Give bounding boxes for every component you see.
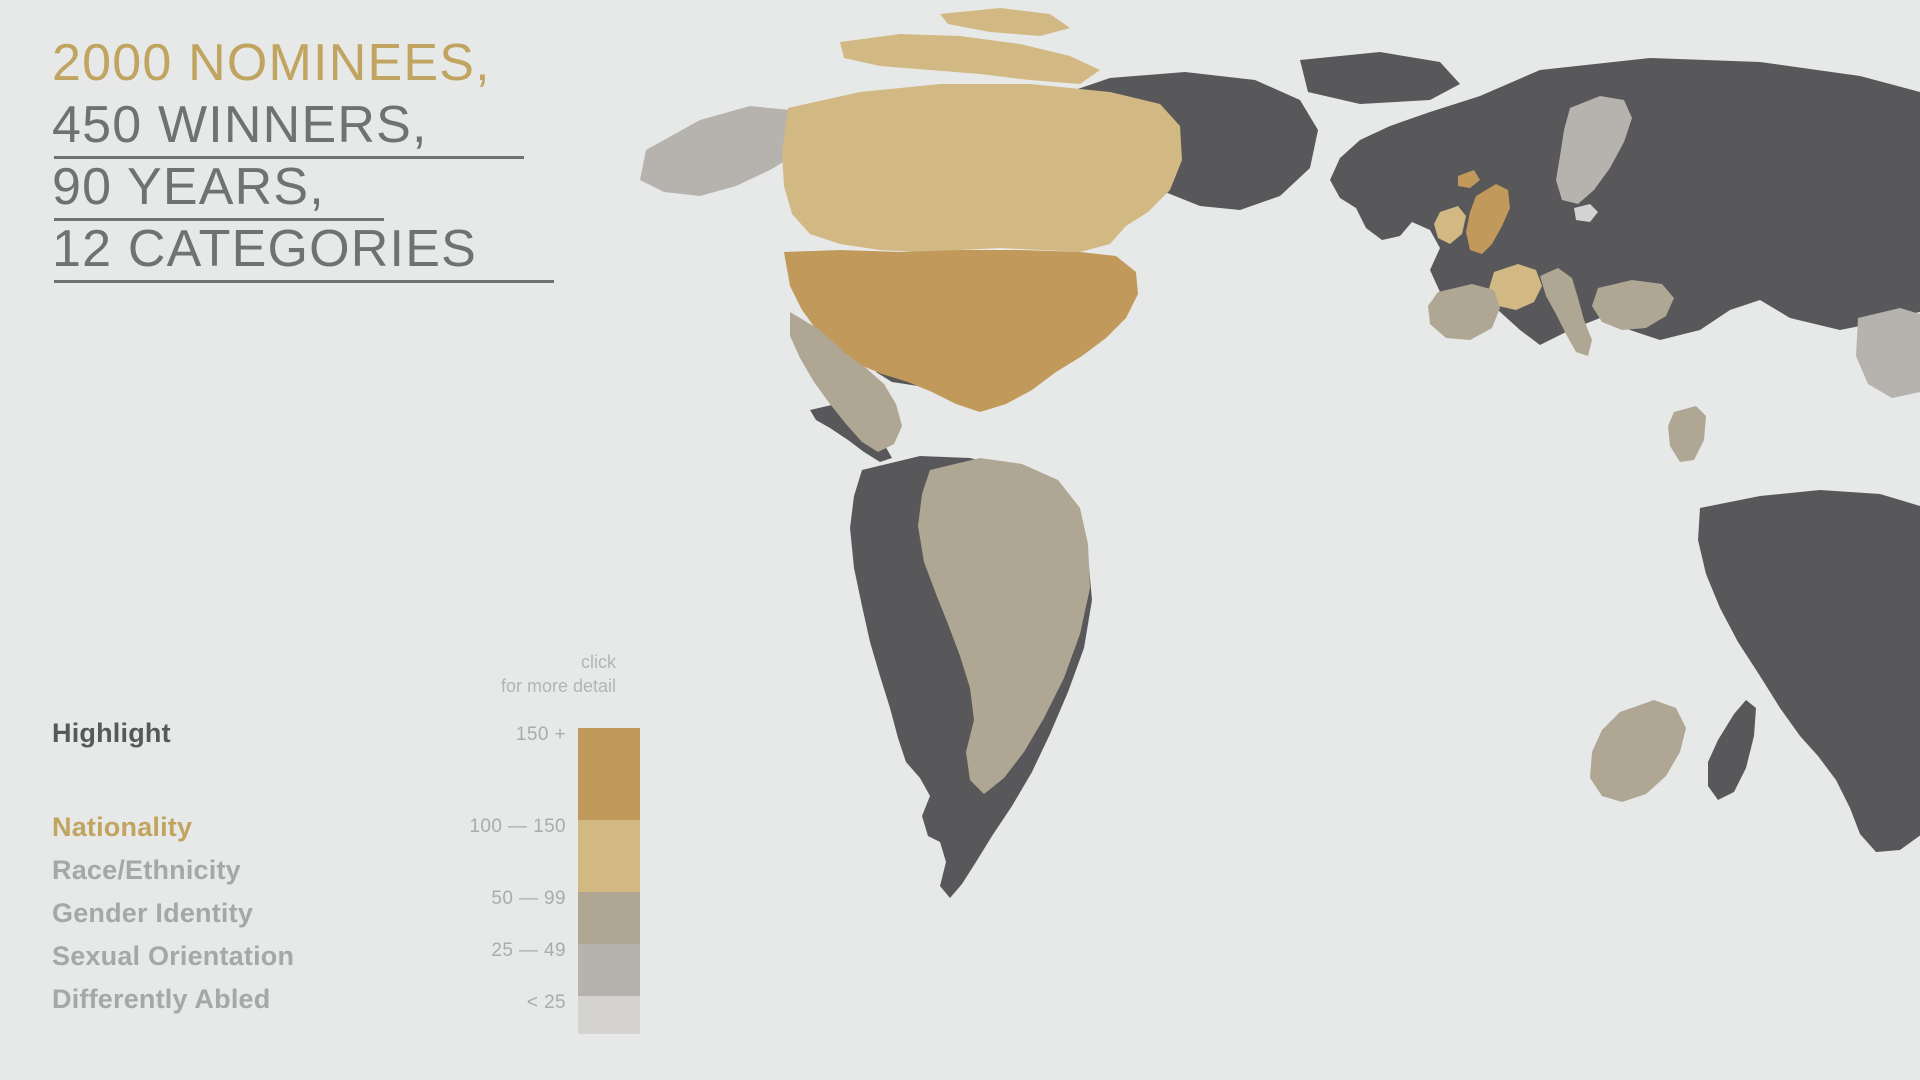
filter-list: Nationality Race/Ethnicity Gender Identi… bbox=[52, 806, 294, 1021]
filter-item-gender-identity[interactable]: Gender Identity bbox=[52, 892, 294, 935]
region-arctic-islands-east[interactable] bbox=[1300, 52, 1460, 104]
legend-band-label: < 25 bbox=[527, 992, 566, 1014]
legend-band-label: 25 — 49 bbox=[491, 940, 566, 962]
headline-line-winners: 450 WINNERS, bbox=[52, 94, 672, 156]
legend-band-label: 100 — 150 bbox=[469, 816, 566, 838]
region-canada[interactable] bbox=[782, 84, 1182, 252]
headline-text: 450 WINNERS, bbox=[52, 94, 428, 156]
highlight-label: Highlight bbox=[52, 718, 171, 749]
headline-block: 2000 NOMINEES, 450 WINNERS, 90 YEARS, 12… bbox=[52, 32, 672, 280]
legend-swatch[interactable] bbox=[578, 728, 640, 820]
legend-swatch[interactable] bbox=[578, 944, 640, 996]
filter-item-sexual-orientation[interactable]: Sexual Orientation bbox=[52, 935, 294, 978]
infographic-canvas: 2000 NOMINEES, 450 WINNERS, 90 YEARS, 12… bbox=[0, 0, 1920, 1080]
region-india[interactable] bbox=[1856, 308, 1920, 398]
legend-hint-line1: click bbox=[406, 650, 616, 674]
headline-line-years: 90 YEARS, bbox=[52, 156, 672, 218]
world-map-svg[interactable] bbox=[640, 0, 1920, 1080]
filter-item-differently-abled[interactable]: Differently Abled bbox=[52, 978, 294, 1021]
region-south-africa[interactable] bbox=[1590, 700, 1686, 802]
world-map[interactable] bbox=[640, 0, 1920, 1080]
region-canada-arctic[interactable] bbox=[840, 8, 1100, 84]
legend-hint-line2: for more detail bbox=[406, 674, 616, 698]
legend-band-label: 150 + bbox=[516, 724, 566, 746]
headline-line-categories: 12 CATEGORIES bbox=[52, 218, 672, 280]
region-spain[interactable] bbox=[1428, 284, 1500, 340]
legend-swatch[interactable] bbox=[578, 892, 640, 944]
filter-item-race-ethnicity[interactable]: Race/Ethnicity bbox=[52, 849, 294, 892]
region-africa[interactable] bbox=[1698, 490, 1920, 852]
headline-rule bbox=[54, 280, 554, 283]
headline-text: 2000 NOMINEES, bbox=[52, 32, 491, 94]
legend-swatch[interactable] bbox=[578, 820, 640, 892]
legend-hint: click for more detail bbox=[406, 650, 616, 698]
region-madagascar[interactable] bbox=[1708, 700, 1756, 800]
legend-band-label: 50 — 99 bbox=[491, 888, 566, 910]
region-egypt[interactable] bbox=[1668, 406, 1706, 462]
headline-line-nominees: 2000 NOMINEES, bbox=[52, 32, 672, 94]
headline-text: 90 YEARS, bbox=[52, 156, 325, 218]
filter-item-nationality[interactable]: Nationality bbox=[52, 806, 294, 849]
legend-swatch[interactable] bbox=[578, 996, 640, 1034]
headline-text: 12 CATEGORIES bbox=[52, 218, 477, 280]
